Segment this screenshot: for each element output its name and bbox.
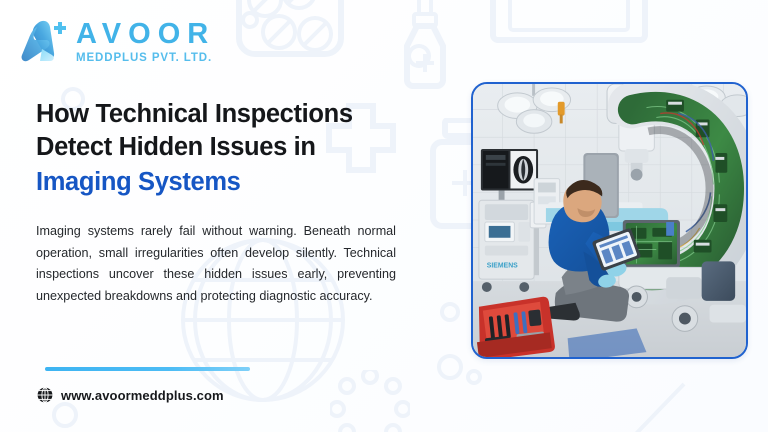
- monitor-screen-icon: [490, 0, 650, 46]
- headline-line-2: Detect Hidden Issues in: [36, 133, 316, 161]
- pill-blister-pack-icon: [235, 0, 345, 58]
- brand-name: AVOOR: [76, 20, 215, 50]
- svg-text:SIEMENS: SIEMENS: [487, 262, 518, 269]
- promo-banner: AVOOR MEDDPLUS PVT. LTD. How Technical I…: [0, 0, 768, 432]
- footer-divider: [45, 367, 250, 371]
- dotted-circle-decoration: [330, 370, 410, 432]
- footer: www.avoormeddplus.com: [37, 387, 224, 403]
- dropper-bottle-icon: [398, 0, 452, 92]
- circle-ring-decoration: [50, 400, 80, 430]
- avoor-a-plus-logo-icon: [20, 20, 68, 64]
- circle-ring-decoration: [406, 43, 432, 69]
- circle-ring-decoration: [240, 10, 260, 30]
- brand-subtitle: MEDDPLUS PVT. LTD.: [76, 52, 215, 64]
- circle-ring-decoration: [435, 352, 465, 382]
- circle-ring-decoration: [465, 368, 483, 386]
- body-paragraph: Imaging systems rarely fail without warn…: [36, 221, 396, 308]
- headline-accent: Imaging Systems: [36, 166, 416, 199]
- website-url[interactable]: www.avoormeddplus.com: [61, 388, 224, 403]
- globe-icon: [37, 387, 53, 403]
- hero-photo: SIEMENS: [471, 82, 748, 359]
- circle-ring-decoration: [438, 300, 462, 324]
- diagonal-line-decoration: [628, 382, 688, 432]
- brand-logo[interactable]: AVOOR MEDDPLUS PVT. LTD.: [20, 20, 215, 64]
- page-title: How Technical Inspections Detect Hidden …: [36, 98, 416, 199]
- headline-line-1: How Technical Inspections: [36, 100, 353, 128]
